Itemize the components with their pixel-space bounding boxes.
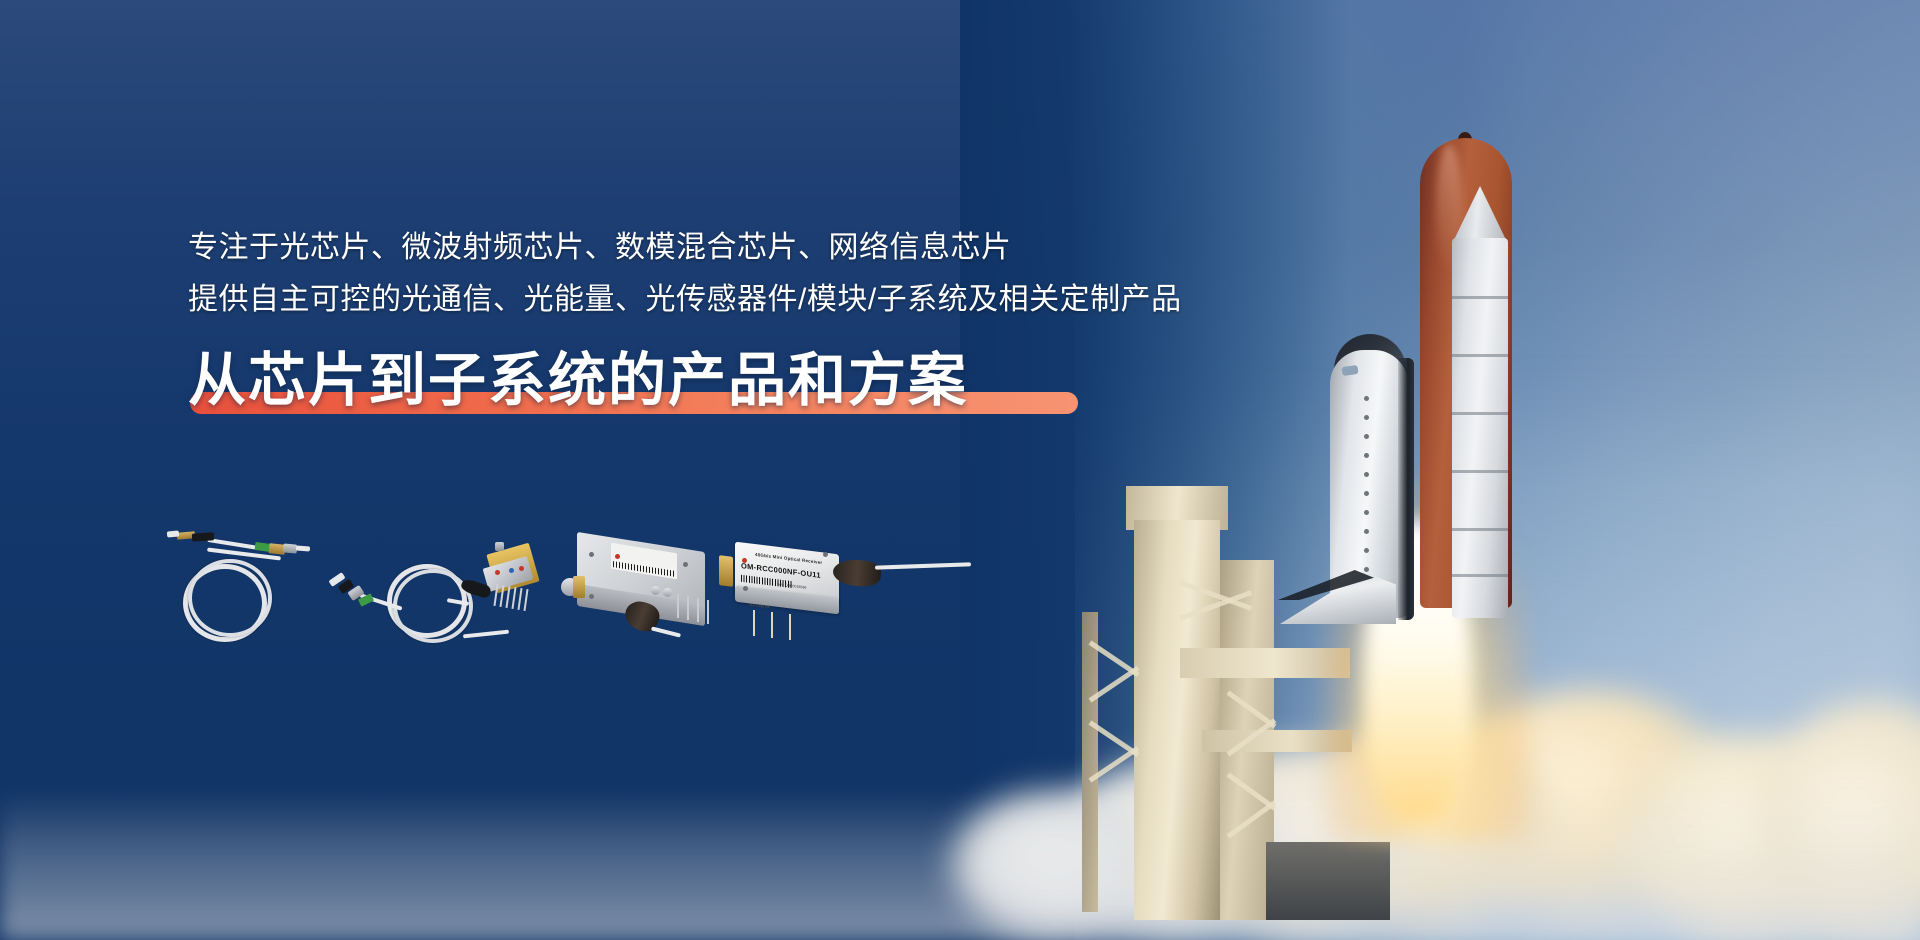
product-mini-optical-receiver[interactable]: 40Gb/s Mini Optical Receiver OM-RCC000NF… xyxy=(715,534,975,664)
product-fiber-pigtail-coil-large[interactable] xyxy=(155,528,315,648)
subline-1: 专注于光芯片、微波射频芯片、数模混合芯片、网络信息芯片 xyxy=(188,222,1188,274)
solid-rocket-booster xyxy=(1452,238,1508,618)
subline-2: 提供自主可控的光通信、光能量、光传感器件/模块/子系统及相关定制产品 xyxy=(188,274,1188,326)
hero-banner: 专注于光芯片、微波射频芯片、数模混合芯片、网络信息芯片 提供自主可控的光通信、光… xyxy=(0,0,1920,940)
page-title: 从芯片到子系统的产品和方案 xyxy=(188,346,1188,416)
product-showcase-row: 40Gb/s Mini Optical Receiver OM-RCC000NF… xyxy=(155,528,1035,668)
hero-copy-block: 专注于光芯片、微波射频芯片、数模混合芯片、网络信息芯片 提供自主可控的光通信、光… xyxy=(188,222,1188,420)
ground-haze xyxy=(0,790,1920,940)
orbiter-port-dots xyxy=(1364,396,1372,596)
orbiter-tile-edge xyxy=(1398,358,1414,620)
space-shuttle-stack xyxy=(1152,120,1712,680)
headline-group: 从芯片到子系统的产品和方案 xyxy=(188,346,1188,420)
